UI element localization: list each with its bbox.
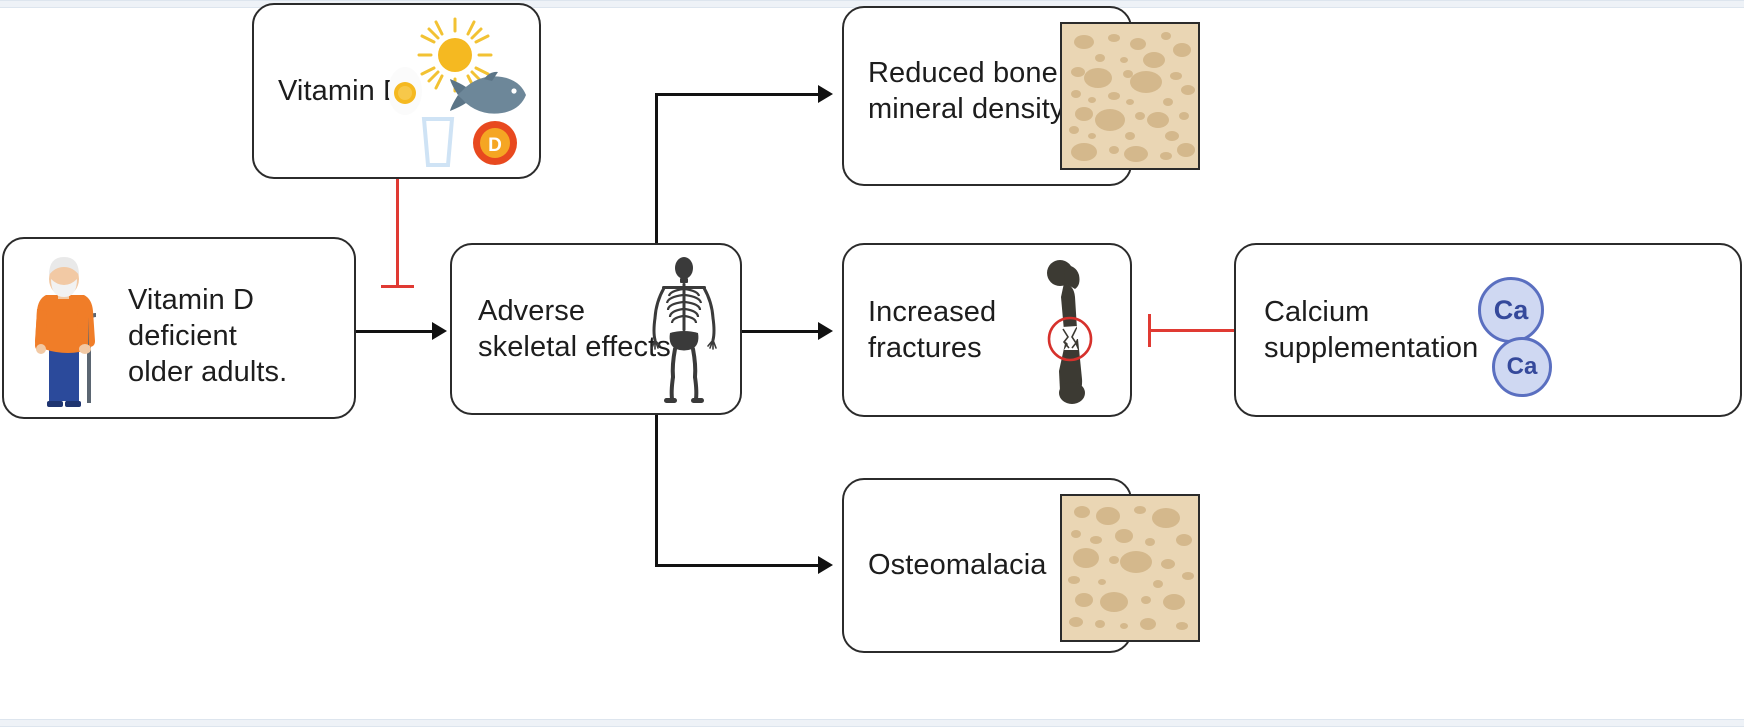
node-reduced-bone-mineral-density-label: Reduced bone mineral density	[868, 56, 1065, 128]
inhibition-calcium-line	[1150, 329, 1236, 332]
fractured-femur-icon	[1034, 255, 1106, 405]
arrowhead-deficient-to-adverse	[432, 322, 447, 340]
porous-bone-texture-icon-osteomalacia	[1060, 494, 1200, 642]
edge-adverse-to-bmd-vertical	[655, 93, 658, 243]
node-calcium-supplementation-label: Calcium supplementation	[1264, 295, 1478, 367]
node-vitamin-d[interactable]: Vitamin D	[252, 3, 541, 179]
elderly-person-with-cane-icon	[22, 251, 108, 411]
arrowhead-adverse-to-osteomalacia	[818, 556, 833, 574]
svg-text:D: D	[488, 135, 502, 156]
porous-bone-texture-icon-bmd	[1060, 22, 1200, 170]
calcium-badge-text-1: Ca	[1494, 295, 1529, 326]
edge-adverse-to-osteomalacia-horizontal	[655, 564, 820, 567]
node-deficient-older-adults-label: Vitamin D deficient older adults.	[128, 283, 354, 391]
node-increased-fractures-label: Increased fractures	[868, 295, 996, 367]
page-rule-bottom	[0, 719, 1744, 727]
node-osteomalacia-label: Osteomalacia	[868, 548, 1047, 584]
calcium-badge-icon-2: Ca	[1492, 337, 1552, 397]
node-increased-fractures[interactable]: Increased fractures	[842, 243, 1132, 417]
inhibition-vitamin-d-stem	[396, 178, 399, 286]
milk-glass-icon	[418, 115, 458, 171]
arrowhead-adverse-to-bmd	[818, 85, 833, 103]
edge-adverse-to-osteomalacia-vertical	[655, 415, 658, 567]
calcium-badge-text-2: Ca	[1507, 353, 1538, 381]
inhibition-vitamin-d-cap	[381, 285, 414, 288]
node-adverse-skeletal-effects-label: Adverse skeletal effects	[478, 294, 671, 366]
diagram-canvas: Vitamin D deficient older adults. Vitami…	[0, 0, 1744, 727]
edge-adverse-to-bmd-horizontal	[655, 93, 820, 96]
fish-icon	[450, 71, 530, 117]
node-adverse-skeletal-effects[interactable]: Adverse skeletal effects	[450, 243, 742, 415]
node-vitamin-d-label: Vitamin D	[278, 74, 404, 110]
arrowhead-adverse-to-fractures	[818, 322, 833, 340]
node-deficient-older-adults[interactable]: Vitamin D deficient older adults.	[2, 237, 356, 419]
edge-deficient-to-adverse	[356, 330, 434, 333]
calcium-badge-icon-1: Ca	[1478, 277, 1544, 343]
vitamin-d-pill-icon: D	[472, 120, 518, 166]
inhibition-calcium-cap	[1148, 314, 1151, 347]
node-calcium-supplementation[interactable]: Calcium supplementation Ca Ca	[1234, 243, 1742, 417]
edge-adverse-to-fractures	[742, 330, 820, 333]
sun-icon	[417, 17, 493, 93]
